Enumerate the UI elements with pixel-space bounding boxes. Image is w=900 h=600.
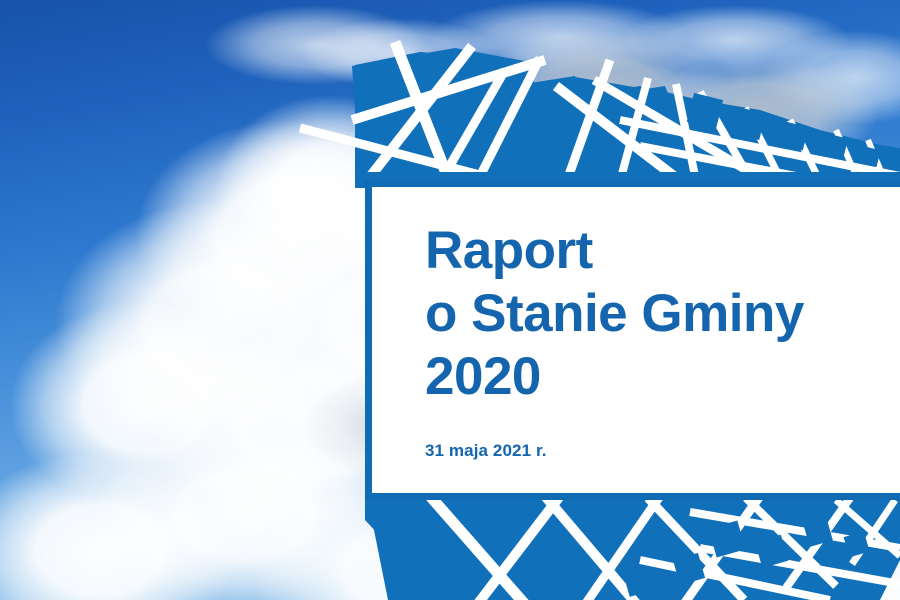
title-card: Raport o Stanie Gminy 2020 31 maja 2021 … xyxy=(365,180,900,500)
title-card-content: Raport o Stanie Gminy 2020 31 maja 2021 … xyxy=(425,219,900,461)
graphic-top-cluster xyxy=(300,42,900,200)
page-title: Raport o Stanie Gminy 2020 xyxy=(425,219,900,408)
title-line-2: o Stanie Gminy xyxy=(425,282,900,345)
graphic-bottom-cluster xyxy=(365,492,900,600)
title-line-1: Raport xyxy=(425,219,900,282)
title-line-3: 2020 xyxy=(425,345,900,408)
report-cover-page: Raport o Stanie Gminy 2020 31 maja 2021 … xyxy=(0,0,900,600)
report-date: 31 maja 2021 r. xyxy=(425,441,900,461)
